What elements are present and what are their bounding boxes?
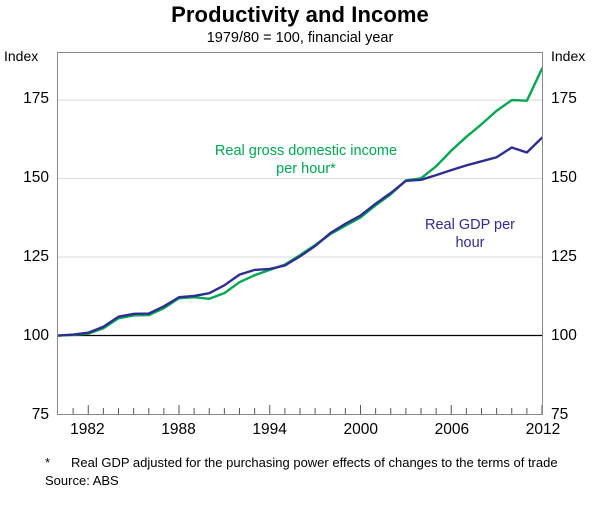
y-axis-tick-label-right: 125 xyxy=(551,249,577,265)
y-axis-unit-left: Index xyxy=(4,48,38,64)
footnotes: * Real GDP adjusted for the purchasing p… xyxy=(45,455,590,489)
x-axis-tick-marks xyxy=(73,405,542,414)
series-line-1 xyxy=(58,69,542,336)
income-series-label: Real gross domestic income per hour* xyxy=(186,142,426,178)
x-axis-tick-label: 1994 xyxy=(238,422,302,438)
chart-figure: Productivity and Income 1979/80 = 100, f… xyxy=(0,0,600,505)
footnote-marker: * xyxy=(45,455,71,472)
page-title: Productivity and Income xyxy=(0,2,600,28)
x-axis-tick-label: 2000 xyxy=(329,422,393,438)
y-axis-tick-label-left: 100 xyxy=(23,328,49,344)
y-axis-tick-label-right: 150 xyxy=(551,170,577,186)
y-axis-tick-label-left: 75 xyxy=(32,407,49,423)
chart-subtitle: 1979/80 = 100, financial year xyxy=(0,30,600,46)
y-axis-tick-label-right: 100 xyxy=(551,328,577,344)
y-axis-tick-label-left: 125 xyxy=(23,249,49,265)
footnote-row: * Real GDP adjusted for the purchasing p… xyxy=(45,455,590,472)
x-axis-tick-label: 2006 xyxy=(420,422,484,438)
series-lines xyxy=(58,69,542,336)
source-line: Source: ABS xyxy=(45,473,590,490)
y-axis-unit-right: Index xyxy=(551,48,585,64)
x-axis-tick-label: 1988 xyxy=(147,422,211,438)
y-axis-tick-label-left: 150 xyxy=(23,170,49,186)
x-axis-tick-label: 2012 xyxy=(511,422,575,438)
x-axis-tick-label: 1982 xyxy=(55,422,119,438)
gdp-series-label: Real GDP per hour xyxy=(396,216,544,252)
y-axis-tick-label-left: 175 xyxy=(23,91,49,107)
footnote-text: Real GDP adjusted for the purchasing pow… xyxy=(71,455,590,472)
y-axis-tick-label-right: 175 xyxy=(551,91,577,107)
